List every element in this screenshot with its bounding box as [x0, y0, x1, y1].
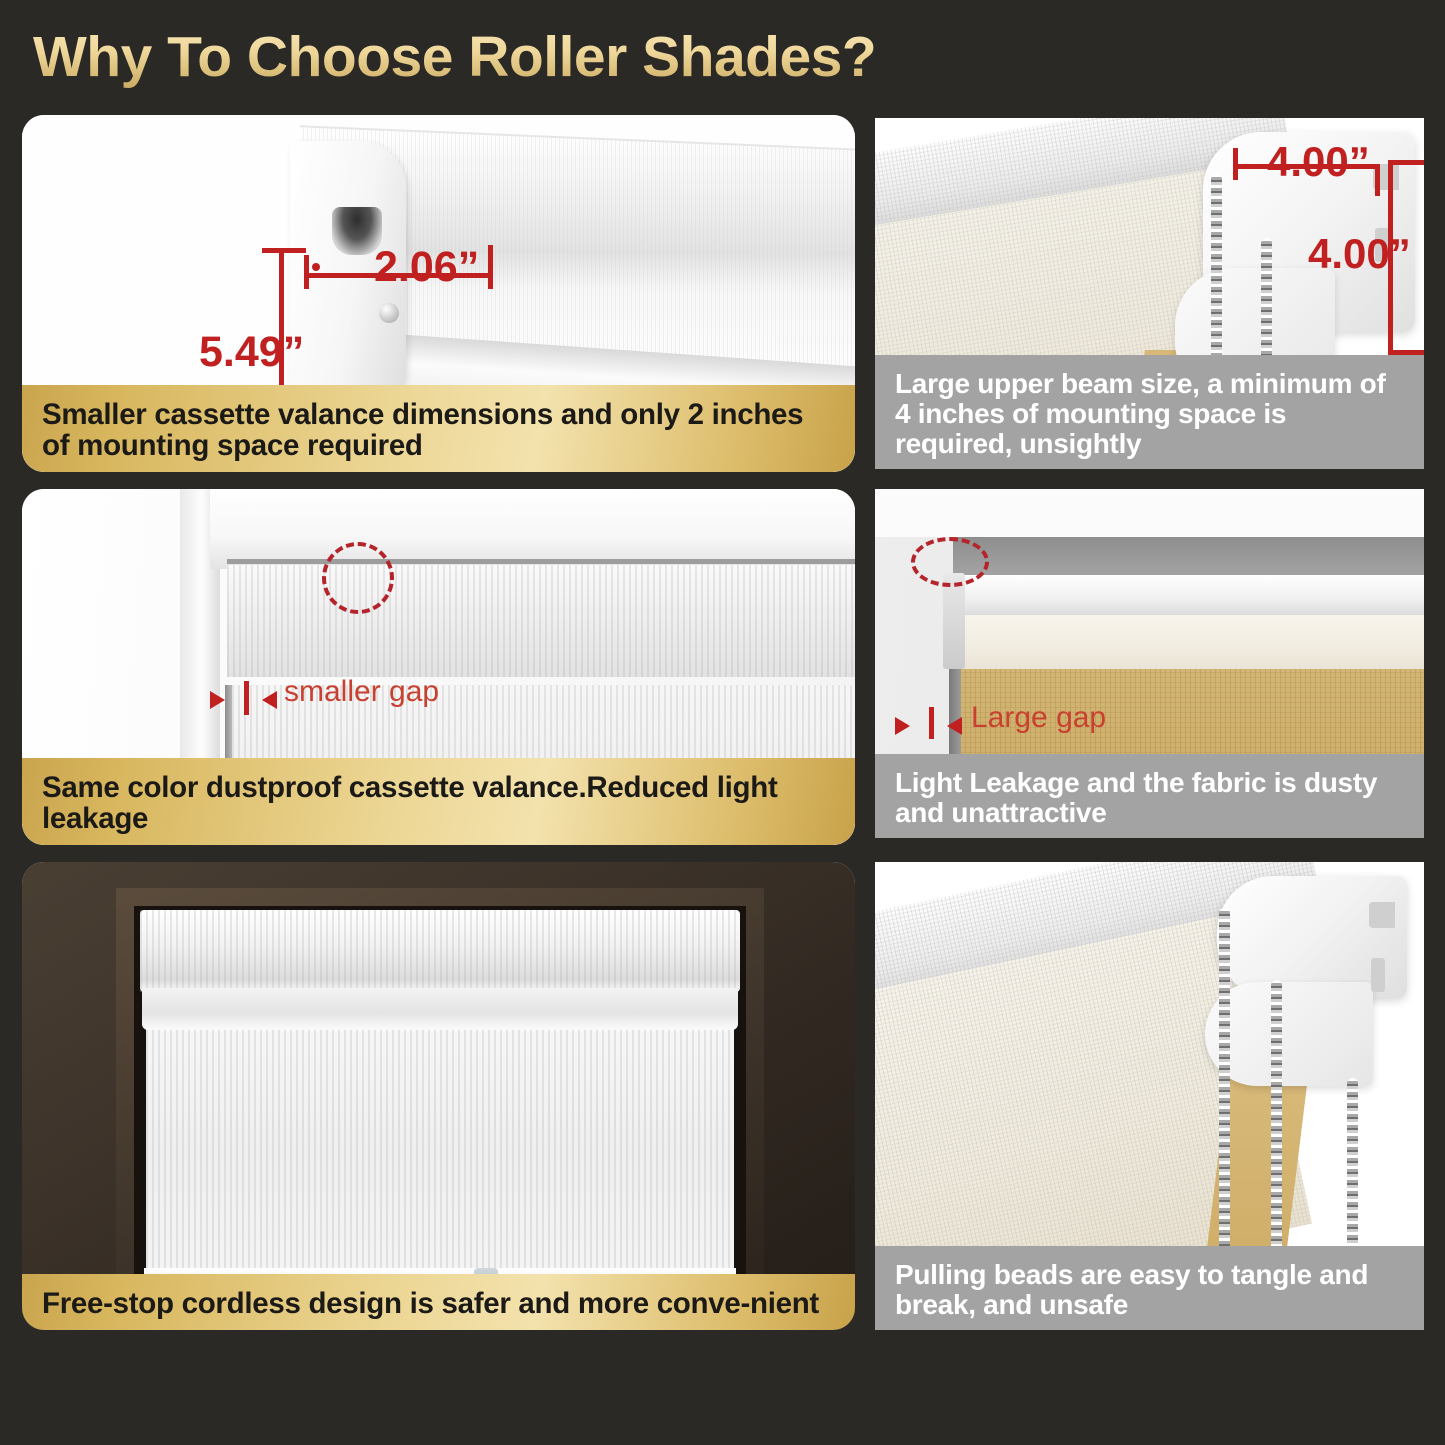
gap-highlight-ring [911, 537, 989, 587]
panel-pro-cordless: Free-stop cordless design is safer and m… [22, 862, 855, 1330]
panel-con-pull-beads: Pulling beads are easy to tangle and bre… [875, 862, 1424, 1330]
caption-pro-cordless: Free-stop cordless design is safer and m… [22, 1274, 855, 1330]
page-title: Why To Choose Roller Shades? [33, 24, 876, 90]
gap-marker [244, 681, 249, 715]
height-tick-top [1388, 160, 1424, 165]
caption-con-pull-beads: Pulling beads are easy to tangle and bre… [875, 1246, 1424, 1330]
panel-con-large-beam: 4.00” 4.00” Large upper beam size, a min… [875, 118, 1424, 469]
gap-marker [929, 707, 934, 739]
caption-con-large-beam: Large upper beam size, a minimum of 4 in… [875, 355, 1424, 469]
width-dimension-label: 2.06” [374, 243, 479, 292]
gap-callout-label: Large gap [971, 701, 1106, 735]
gap-arrow-right [262, 691, 277, 709]
width-tick-left [1233, 148, 1238, 180]
gap-arrow-right [947, 717, 962, 735]
panel-con-large-gap: Large gap Light Leakage and the fabric i… [875, 489, 1424, 838]
cordless-room-photo [22, 862, 855, 1330]
caption-pro-smaller-gap: Same color dustproof cassette valance.Re… [22, 758, 855, 845]
width-tick-right [488, 245, 493, 289]
gap-highlight-ring [322, 542, 394, 614]
caption-con-large-gap: Light Leakage and the fabric is dusty an… [875, 754, 1424, 838]
panel-pro-cassette-dimensions: 2.06” 5.49” Smaller cassette valance dim… [22, 115, 855, 472]
gap-callout-label: smaller gap [284, 675, 439, 709]
panel-pro-smaller-gap: smaller gap Same color dustproof cassett… [22, 489, 855, 845]
width-dimension-label: 4.00” [1267, 138, 1370, 186]
height-dimension-label: 5.49” [199, 328, 304, 377]
width-tick-left [304, 255, 309, 289]
gap-arrow-left [895, 717, 910, 735]
height-dimension-label: 4.00” [1308, 230, 1411, 278]
caption-pro-cassette-dimensions: Smaller cassette valance dimensions and … [22, 385, 855, 472]
height-tick-top [262, 248, 306, 253]
width-tick-right [1375, 164, 1380, 196]
gap-arrow-left [210, 691, 225, 709]
